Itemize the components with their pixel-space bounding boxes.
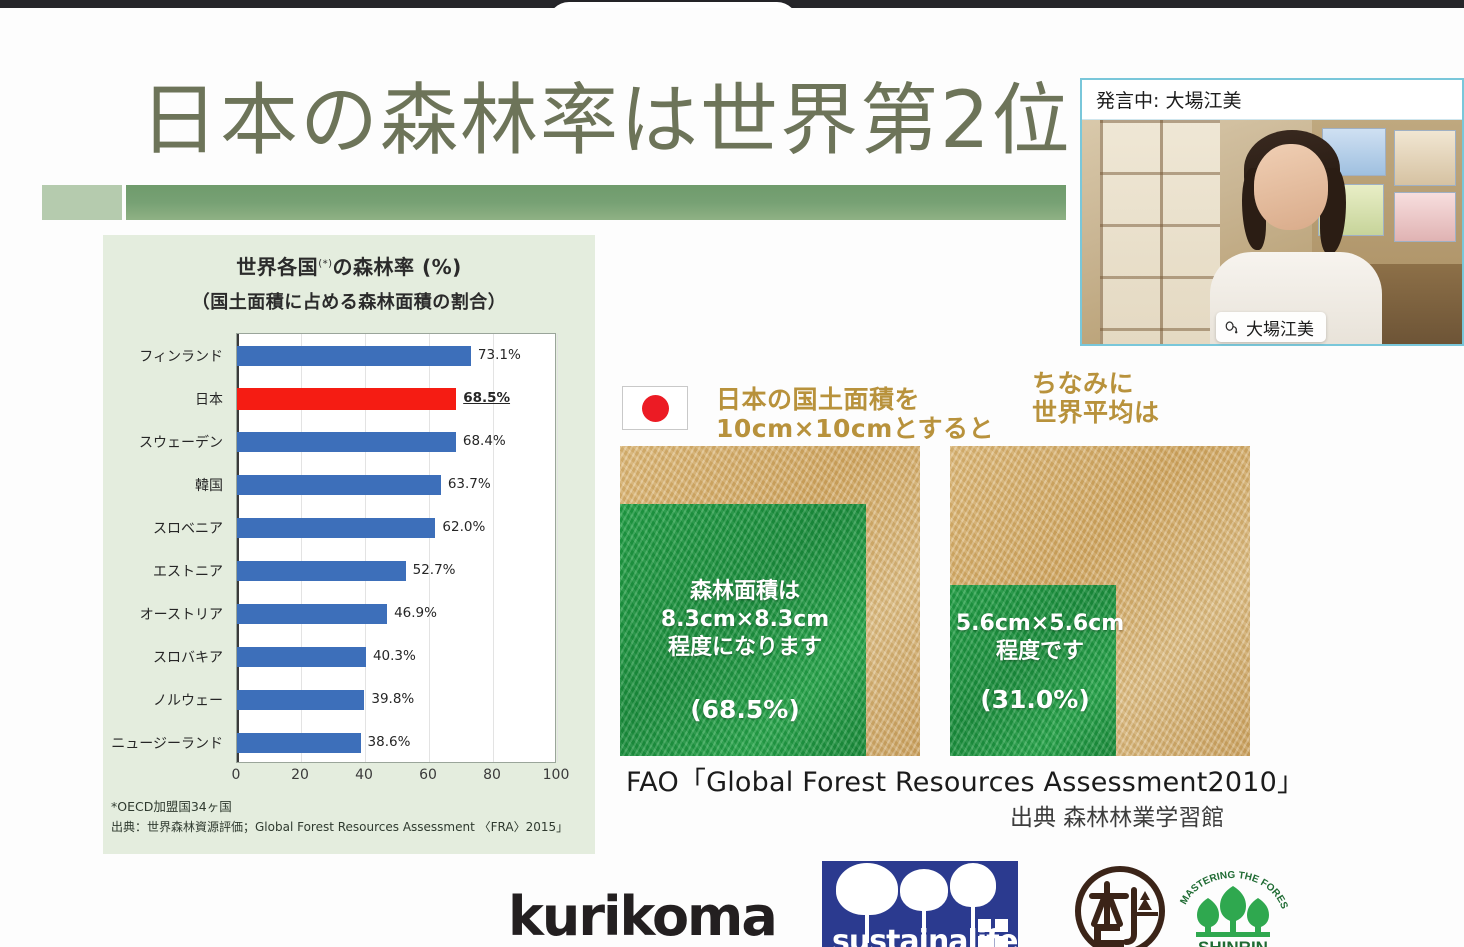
world-forest-percent: (31.0%) [952, 684, 1118, 716]
x-tick-label: 80 [483, 767, 501, 783]
bar-value-label: 68.5% [463, 390, 510, 406]
bar [237, 604, 387, 624]
bar [237, 561, 406, 581]
chart-title-main-rest: の森林率 (%) [333, 255, 462, 279]
world-average-caption-line2: 世界平均は [1032, 399, 1160, 428]
japan-area-caption-line2: 10cm×10cmとすると [716, 415, 994, 444]
category-label: スロベニア [153, 518, 223, 538]
footnote-line-1: *OECD加盟国34ヶ国 [111, 797, 591, 818]
category-label: フィンランド [139, 346, 223, 366]
forest-rate-chart-panel: 世界各国(*)の森林率 (%) （国土面積に占める森林面積の割合） フィンランド… [103, 235, 595, 854]
microphone-icon [1224, 320, 1239, 335]
accent-block [42, 185, 122, 220]
japan-forest-text: 森林面積は 8.3cm×8.3cm 程度になります [622, 578, 868, 662]
world-average-caption-line1: ちなみに [1032, 370, 1160, 399]
category-label: ニュージーランド [111, 733, 223, 753]
bar-value-label: 73.1% [478, 347, 521, 363]
category-label: エストニア [153, 561, 223, 581]
source-citation: FAO「Global Forest Resources Assessment20… [626, 760, 1304, 799]
japan-forest-text-line3: 程度になります [622, 634, 868, 662]
speaking-status: 発言中: 大場江美 [1082, 80, 1462, 120]
japan-forest-text-line2: 8.3cm×8.3cm [622, 606, 868, 634]
speaking-status-label: 発言中: 大場江美 [1096, 86, 1241, 113]
chart-bars: 73.1%68.5%68.4%63.7%62.0%52.7%46.9%40.3%… [237, 334, 555, 762]
chart-x-axis-ticks: 020406080100 [236, 767, 556, 789]
person-face [1254, 144, 1328, 230]
shinrin-logo: MASTERING THE FOREST SHINRIN [1174, 866, 1292, 947]
chart-category-labels: フィンランド日本スウェーデン韓国スロベニアエストニアオーストリアスロバキアノルウ… [103, 333, 231, 763]
speaker-video-tile[interactable]: 発言中: 大場江美 [1080, 78, 1464, 346]
x-tick-label: 100 [543, 767, 570, 783]
bar [237, 346, 471, 366]
bar [237, 388, 456, 410]
bar [237, 690, 364, 710]
category-label: 韓国 [195, 475, 223, 495]
japan-forest-text-line1: 森林面積は [622, 578, 868, 606]
source-attribution: 出典 森林林業学習館 [1010, 798, 1224, 832]
x-tick-label: 0 [232, 767, 241, 783]
japan-area-caption-line1: 日本の国土面積を [716, 386, 994, 415]
bar [237, 733, 361, 753]
category-label: スロバキア [153, 647, 223, 667]
page-title: 日本の森林率は世界第2位 [140, 58, 1072, 170]
participant-name-badge: 大場江美 [1216, 312, 1326, 342]
kurikoma-logo: kurikoma [508, 885, 776, 947]
chart-footnote: *OECD加盟国34ヶ国 出典：世界森林資源評価；Global Forest R… [111, 797, 591, 837]
japan-flag-icon [622, 386, 688, 430]
category-label: オーストリア [140, 604, 223, 624]
gridline [557, 334, 558, 762]
video-feed [1082, 120, 1462, 344]
bar [237, 647, 366, 667]
shoji-screen-background [1100, 120, 1220, 344]
sustainalife-logo: sustainalife [822, 861, 1018, 947]
accent-band [126, 185, 1066, 220]
bar [237, 432, 456, 452]
poster-4 [1394, 192, 1456, 242]
bar-value-label: 38.6% [368, 734, 411, 750]
x-tick-label: 60 [419, 767, 437, 783]
x-tick-label: 20 [291, 767, 309, 783]
screen-share-window: Emiko Tarumi のアプリケーショ… 日本の森林率は世界第2位 世界各国… [0, 0, 1464, 947]
japan-area-caption: 日本の国土面積を 10cm×10cmとすると [716, 386, 994, 444]
kikori-logo [1074, 866, 1166, 947]
world-forest-text: 5.6cm×5.6cm 程度です [940, 610, 1140, 666]
chart-title: 世界各国(*)の森林率 (%) （国土面積に占める森林面積の割合） [103, 235, 595, 314]
category-label: 日本 [195, 389, 223, 409]
bar-value-label: 46.9% [394, 605, 437, 621]
chart-plot-area: 73.1%68.5%68.4%63.7%62.0%52.7%46.9%40.3%… [236, 333, 556, 763]
bar [237, 518, 435, 538]
bar [237, 475, 441, 495]
participant-name-label: 大場江美 [1246, 315, 1314, 340]
chart-title-footnote-marker: (*) [318, 258, 332, 269]
footnote-line-2: 出典：世界森林資源評価；Global Forest Resources Asse… [111, 818, 591, 838]
world-forest-text-line2: 程度です [940, 638, 1140, 666]
chart-subtitle: （国土面積に占める森林面積の割合） [103, 288, 595, 314]
bar-value-label: 63.7% [448, 476, 491, 492]
bar-value-label: 68.4% [463, 433, 506, 449]
x-tick-label: 40 [355, 767, 373, 783]
bar-value-label: 52.7% [413, 562, 456, 578]
category-label: ノルウェー [153, 690, 223, 710]
category-label: スウェーデン [139, 432, 223, 452]
world-average-caption: ちなみに 世界平均は [1032, 370, 1160, 428]
world-forest-text-line1: 5.6cm×5.6cm [940, 610, 1140, 638]
bar-value-label: 62.0% [442, 519, 485, 535]
chart-title-main: 世界各国 [236, 255, 318, 279]
bar-value-label: 40.3% [373, 648, 416, 664]
bar-value-label: 39.8% [371, 691, 414, 707]
poster-2 [1394, 130, 1456, 186]
svg-text:SHINRIN: SHINRIN [1198, 938, 1268, 947]
sustainalife-wordmark: sustainalife [832, 924, 1018, 947]
japan-forest-percent: (68.5%) [622, 694, 868, 726]
